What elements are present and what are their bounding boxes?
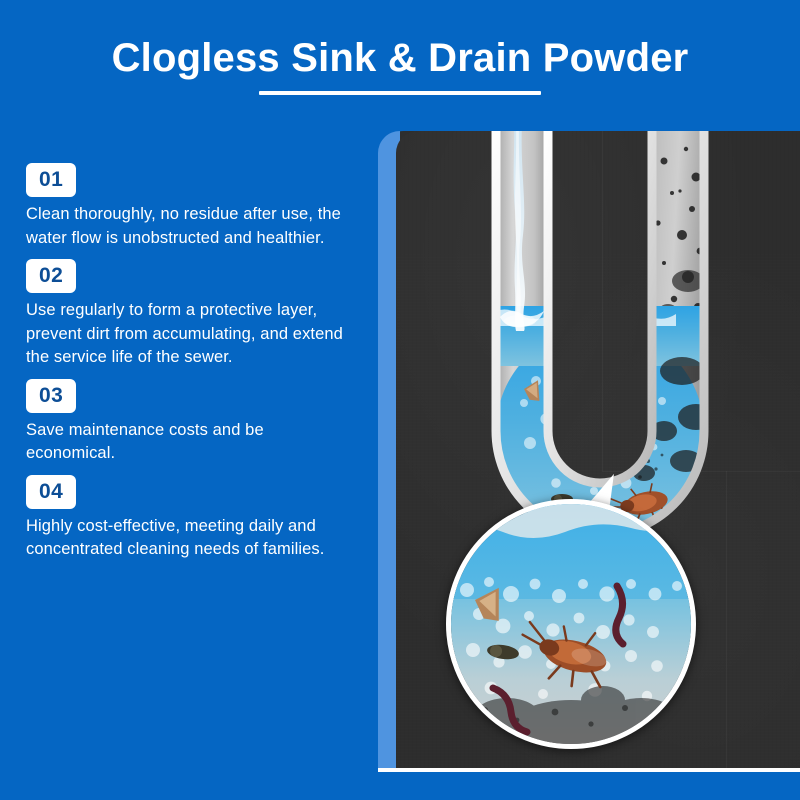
feature-badge-03: 03 bbox=[26, 379, 76, 413]
feature-item-03: 03 Save maintenance costs and be economi… bbox=[26, 379, 356, 466]
feature-badge-04: 04 bbox=[26, 475, 76, 509]
feature-list: 01 Clean thoroughly, no residue after us… bbox=[26, 163, 356, 571]
panel-bottom-strip bbox=[378, 768, 800, 772]
magnified-closeup bbox=[446, 499, 696, 749]
feature-item-01: 01 Clean thoroughly, no residue after us… bbox=[26, 163, 356, 250]
feature-text-01: Clean thoroughly, no residue after use, … bbox=[26, 203, 356, 250]
page-title: Clogless Sink & Drain Powder bbox=[0, 34, 800, 82]
product-photo bbox=[396, 131, 800, 768]
product-image-panel bbox=[378, 131, 800, 768]
feature-item-04: 04 Highly cost-effective, meeting daily … bbox=[26, 475, 356, 562]
poster-canvas: Clogless Sink & Drain Powder 01 Clean th… bbox=[0, 0, 800, 800]
title-block: Clogless Sink & Drain Powder bbox=[0, 34, 800, 95]
title-underline bbox=[259, 91, 541, 95]
feature-badge-01: 01 bbox=[26, 163, 76, 197]
feature-item-02: 02 Use regularly to form a protective la… bbox=[26, 259, 356, 370]
feature-text-02: Use regularly to form a protective layer… bbox=[26, 299, 356, 370]
feature-text-03: Save maintenance costs and be economical… bbox=[26, 419, 356, 466]
feature-text-04: Highly cost-effective, meeting daily and… bbox=[26, 515, 356, 562]
feature-badge-02: 02 bbox=[26, 259, 76, 293]
